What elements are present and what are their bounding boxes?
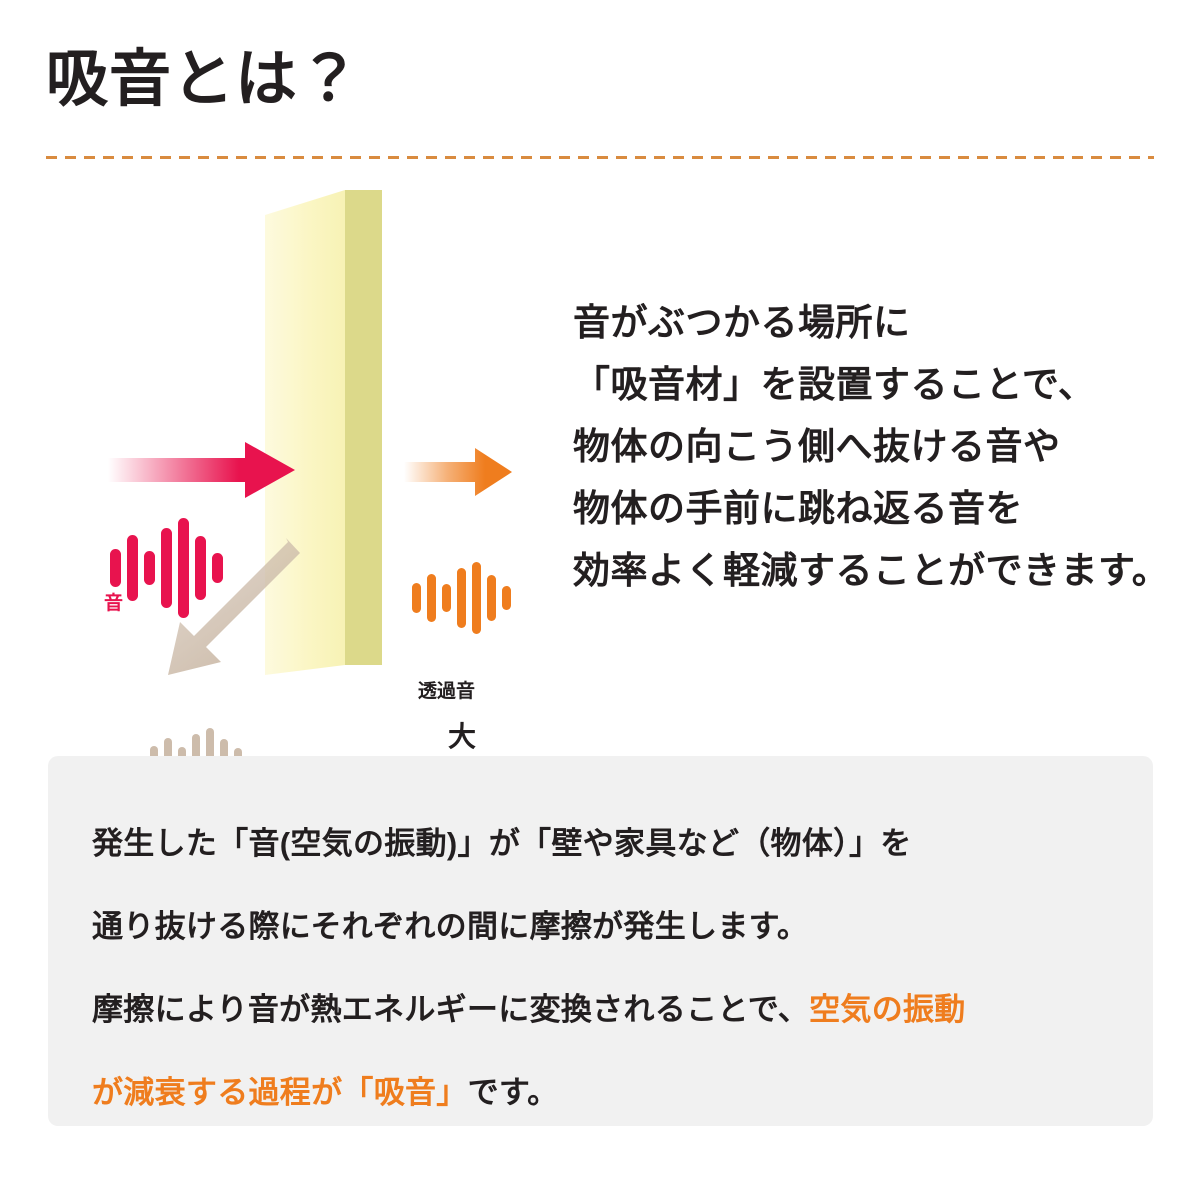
panel-front-face [265, 190, 345, 675]
transmitted-sound-wave [412, 562, 511, 634]
body-copy: 音がぶつかる場所に 「吸音材」を設置することで、 物体の向こう側へ抜ける音や 物… [573, 292, 1173, 602]
page-root: 吸音とは？ [0, 0, 1200, 1200]
callout-line-4-highlight: が減衰する過程が「吸音」 [92, 1075, 468, 1110]
page-title: 吸音とは？ [46, 46, 361, 114]
transmitted-sound-magnitude: 大 [448, 722, 476, 753]
callout-line-3: 摩擦により音が熱エネルギーに変換されることで、空気の振動 [92, 968, 1122, 1051]
incident-sound-wave [110, 518, 223, 618]
callout-line-3-plain: 摩擦により音が熱エネルギーに変換されることで、 [92, 992, 809, 1027]
dashed-divider [46, 156, 1154, 159]
callout-line-1: 発生した「音(空気の振動)」が「壁や家具など（物体）」を [92, 802, 1122, 885]
absorption-diagram: 音 透過音 大 反射音 小 [0, 170, 560, 715]
callout-line-2: 通り抜ける際にそれぞれの間に摩擦が発生します。 [92, 885, 1122, 968]
panel-side-edge [345, 190, 382, 665]
callout-line-3-highlight: 空気の振動 [809, 992, 966, 1027]
callout-line-4: が減衰する過程が「吸音」です。 [92, 1051, 1122, 1134]
body-copy-line-2: 「吸音材」を設置することで、 [573, 354, 1173, 416]
transmitted-sound-label: 透過音 [418, 682, 475, 703]
body-copy-line-3: 物体の向こう側へ抜ける音や [573, 416, 1173, 478]
definition-callout-box: 発生した「音(空気の振動)」が「壁や家具など（物体）」を 通り抜ける際にそれぞれ… [48, 756, 1153, 1126]
definition-callout-text: 発生した「音(空気の振動)」が「壁や家具など（物体）」を 通り抜ける際にそれぞれ… [92, 802, 1122, 1134]
callout-line-4-plain: です。 [468, 1075, 559, 1110]
body-copy-line-5: 効率よく軽減することができます。 [573, 540, 1173, 602]
incident-sound-label: 音 [104, 594, 123, 615]
body-copy-line-4: 物体の手前に跳ね返る音を [573, 478, 1173, 540]
body-copy-line-1: 音がぶつかる場所に [573, 292, 1173, 354]
transmitted-sound-arrow [404, 448, 512, 496]
